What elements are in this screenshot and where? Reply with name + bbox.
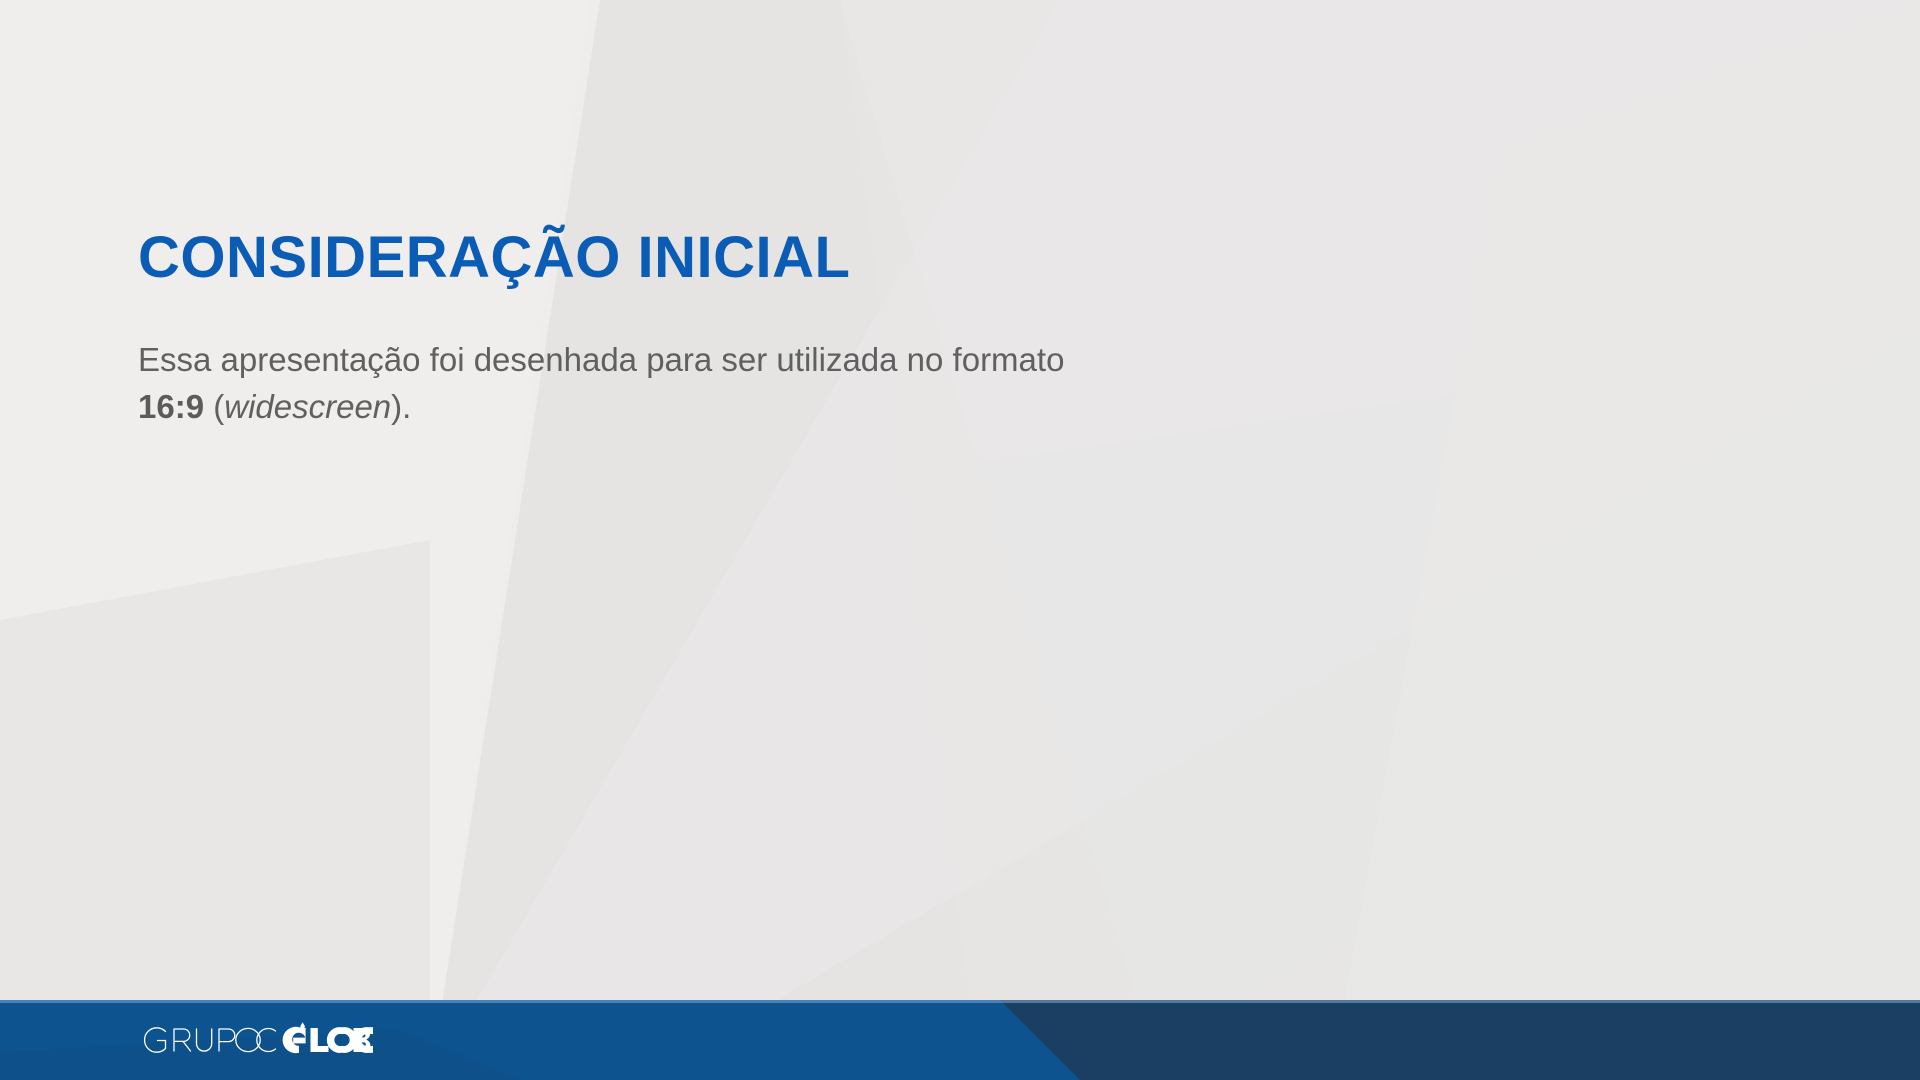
aspect-ratio-value: 16:9 bbox=[138, 388, 204, 425]
body-paren-close: ). bbox=[391, 388, 411, 425]
footer-top-rule bbox=[0, 1000, 1920, 1003]
grupo-globo-logo: GRUPO GLOBO bbox=[138, 1020, 373, 1060]
body-paren-open: ( bbox=[204, 388, 224, 425]
slide-content: CONSIDERAÇÃO INICIAL Essa apresentação f… bbox=[138, 228, 1438, 431]
grupo-globo-logo-mark bbox=[138, 1020, 373, 1060]
presentation-slide: CONSIDERAÇÃO INICIAL Essa apresentação f… bbox=[0, 0, 1920, 1080]
page-title: CONSIDERAÇÃO INICIAL bbox=[138, 228, 1438, 289]
slide-body-text: Essa apresentação foi desenhada para ser… bbox=[138, 337, 1318, 431]
slide-footer: GRUPO GLOBO bbox=[0, 1000, 1920, 1080]
body-line-1: Essa apresentação foi desenhada para ser… bbox=[138, 341, 1064, 378]
background-geometry bbox=[0, 0, 1920, 1080]
widescreen-term: widescreen bbox=[224, 388, 391, 425]
